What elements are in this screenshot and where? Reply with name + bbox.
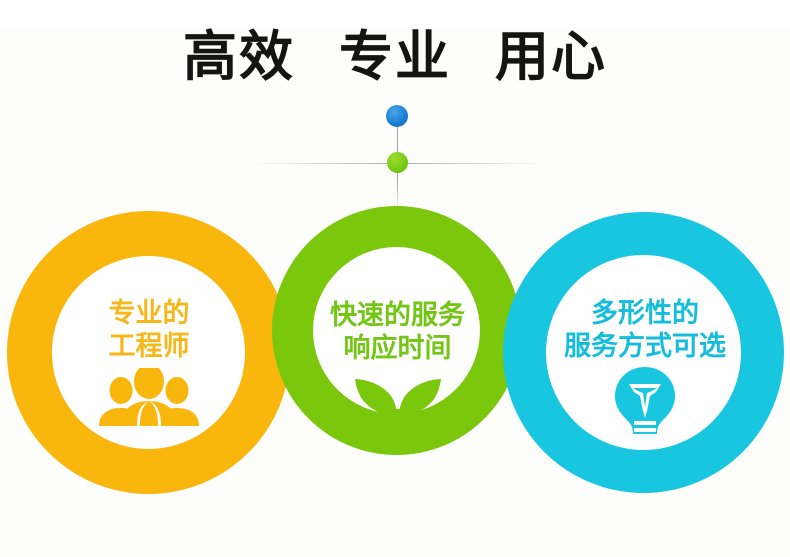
ring-orange-inner-disc [52, 256, 245, 449]
page-title: 高效专业用心 [0, 29, 790, 86]
headline-segment-2: 专业 [339, 29, 451, 86]
blue-dot-icon [386, 105, 408, 127]
green-dot-icon [387, 152, 408, 173]
ring-cyan-inner-disc [546, 255, 741, 450]
infographic-canvas: 高效专业用心 专业的 工程师 [0, 0, 790, 557]
headline-segment-1: 高效 [183, 29, 295, 86]
headline-segment-3: 用心 [495, 29, 607, 86]
ring-green-inner-disc [313, 247, 480, 414]
